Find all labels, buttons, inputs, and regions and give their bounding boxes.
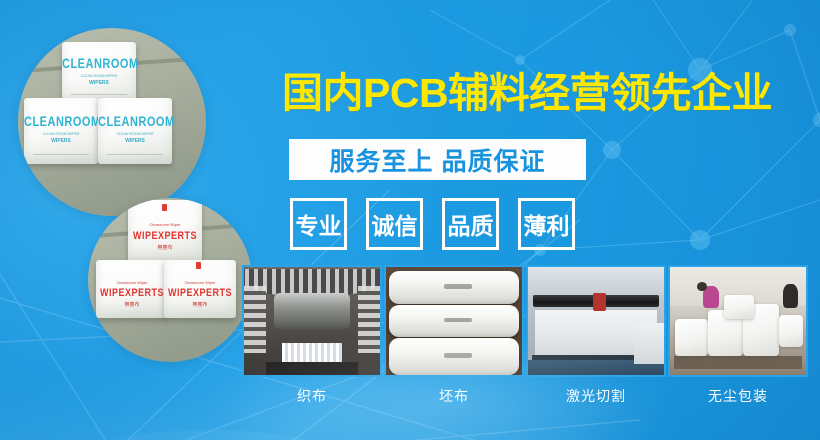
roll-label-mark bbox=[444, 284, 473, 289]
pack-brand-text: CLEANROOM bbox=[24, 115, 98, 130]
cleanroom-pack-top: CLEANROOM CLEAN ROOM WIPER WIPERS bbox=[62, 42, 136, 106]
fabric-roll bbox=[389, 338, 520, 375]
badge-label: 专业 bbox=[296, 207, 342, 241]
packaging-table bbox=[674, 356, 802, 369]
knitting-machine-photo bbox=[242, 265, 382, 377]
badge-label: 薄利 bbox=[524, 207, 570, 241]
pack-red-mark bbox=[162, 204, 167, 211]
promo-banner: CLEANROOM CLEAN ROOM WIPER WIPERS CLEANR… bbox=[0, 0, 820, 440]
pack-brand-sub2: WIPERS bbox=[24, 138, 98, 144]
pack-brand-sub2: 無塵布 bbox=[164, 301, 236, 308]
pack-brand-sub: CLEAN ROOM WIPER bbox=[98, 132, 172, 136]
badge-quality: 品质 bbox=[442, 198, 499, 250]
badge-low-margin: 薄利 bbox=[518, 198, 575, 250]
pack-brand-text: WIPEXPERTS bbox=[96, 286, 168, 299]
pack-brand-sub2: 無塵布 bbox=[128, 244, 202, 251]
roll-label-mark bbox=[444, 318, 473, 323]
pack-fold-line bbox=[33, 154, 89, 155]
badge-label: 品质 bbox=[448, 207, 494, 241]
pack-brand-text: WIPEXPERTS bbox=[164, 286, 236, 299]
machine-base bbox=[266, 362, 358, 375]
wipexperts-pack-right: Cleanroom Wiper WIPEXPERTS 無塵布 bbox=[164, 260, 236, 318]
pack-brand-text: CLEANROOM bbox=[98, 115, 172, 130]
subtitle-text: 服务至上 品质保证 bbox=[330, 142, 546, 178]
process-caption: 坯布 bbox=[384, 386, 524, 406]
product-photo-cleanroom-wipes: CLEANROOM CLEAN ROOM WIPER WIPERS CLEANR… bbox=[18, 28, 206, 216]
process-item-weaving: 织布 bbox=[242, 265, 382, 406]
pack-brand-text: WIPEXPERTS bbox=[128, 229, 202, 242]
packaging-worker bbox=[783, 284, 798, 308]
cleanroom-pack-left: CLEANROOM CLEAN ROOM WIPER WIPERS bbox=[24, 98, 98, 164]
pack-brand-sub: CLEAN ROOM WIPER bbox=[24, 132, 98, 136]
pack-brand-sub2: WIPERS bbox=[98, 138, 172, 144]
machine-yarn-rack-right bbox=[358, 286, 380, 353]
packaged-bag bbox=[724, 295, 754, 319]
wipexperts-pack-top: Cleanroom Wiper WIPEXPERTS 無塵布 bbox=[128, 200, 202, 262]
process-item-cleanroom-packaging: 无尘包装 bbox=[668, 265, 808, 406]
pack-brand-text: CLEANROOM bbox=[62, 57, 136, 72]
badge-integrity: 诚信 bbox=[366, 198, 423, 250]
pack-brand-sub: Cleanroom Wiper bbox=[96, 280, 168, 285]
packaged-bag bbox=[675, 319, 708, 356]
process-caption: 织布 bbox=[242, 386, 382, 406]
laser-cutting-photo bbox=[526, 265, 666, 377]
pack-red-mark bbox=[196, 262, 201, 269]
subtitle-bar: 服务至上 品质保证 bbox=[289, 139, 586, 180]
cleanroom-packaging-photo bbox=[668, 265, 808, 377]
fabric-roll bbox=[389, 305, 520, 337]
fabric-rolls-photo bbox=[384, 265, 524, 377]
pack-brand-sub: CLEAN ROOM WIPER bbox=[62, 74, 136, 78]
product-photo-wipexperts: Cleanroom Wiper WIPEXPERTS 無塵布 Cleanroom… bbox=[88, 198, 252, 362]
machine-cylinder bbox=[274, 293, 350, 330]
process-item-laser-cutting: 激光切割 bbox=[526, 265, 666, 406]
pack-brand-sub: Cleanroom Wiper bbox=[128, 222, 202, 227]
feature-badge-group: 专业 诚信 品质 薄利 bbox=[290, 198, 575, 250]
process-item-greige-fabric: 坯布 bbox=[384, 265, 524, 406]
process-photo-strip: 织布 坯布 激光切割 bbox=[242, 265, 808, 406]
cutter-control-box bbox=[634, 323, 664, 364]
pack-brand-sub: Cleanroom Wiper bbox=[164, 280, 236, 285]
process-caption: 无尘包装 bbox=[668, 386, 808, 406]
roll-label-mark bbox=[444, 353, 473, 358]
cleanroom-pack-right: CLEANROOM CLEAN ROOM WIPER WIPERS bbox=[98, 98, 172, 164]
packaging-worker-head bbox=[697, 282, 707, 291]
pack-fold-line bbox=[107, 154, 163, 155]
badge-professional: 专业 bbox=[290, 198, 347, 250]
badge-label: 诚信 bbox=[372, 207, 418, 241]
pack-fold-line bbox=[71, 94, 127, 95]
fabric-roll bbox=[389, 271, 520, 303]
pack-brand-sub2: WIPERS bbox=[62, 80, 136, 86]
wipexperts-pack-left: Cleanroom Wiper WIPEXPERTS 無塵布 bbox=[96, 260, 168, 318]
pack-brand-sub2: 無塵布 bbox=[96, 301, 168, 308]
cutter-laser-head bbox=[593, 293, 605, 311]
machine-yarn-rack-left bbox=[244, 286, 266, 353]
page-title: 国内PCB辅料经营领先企业 bbox=[282, 73, 772, 114]
packaged-bag bbox=[779, 315, 803, 347]
cutter-wall bbox=[528, 267, 664, 295]
process-caption: 激光切割 bbox=[526, 386, 666, 406]
